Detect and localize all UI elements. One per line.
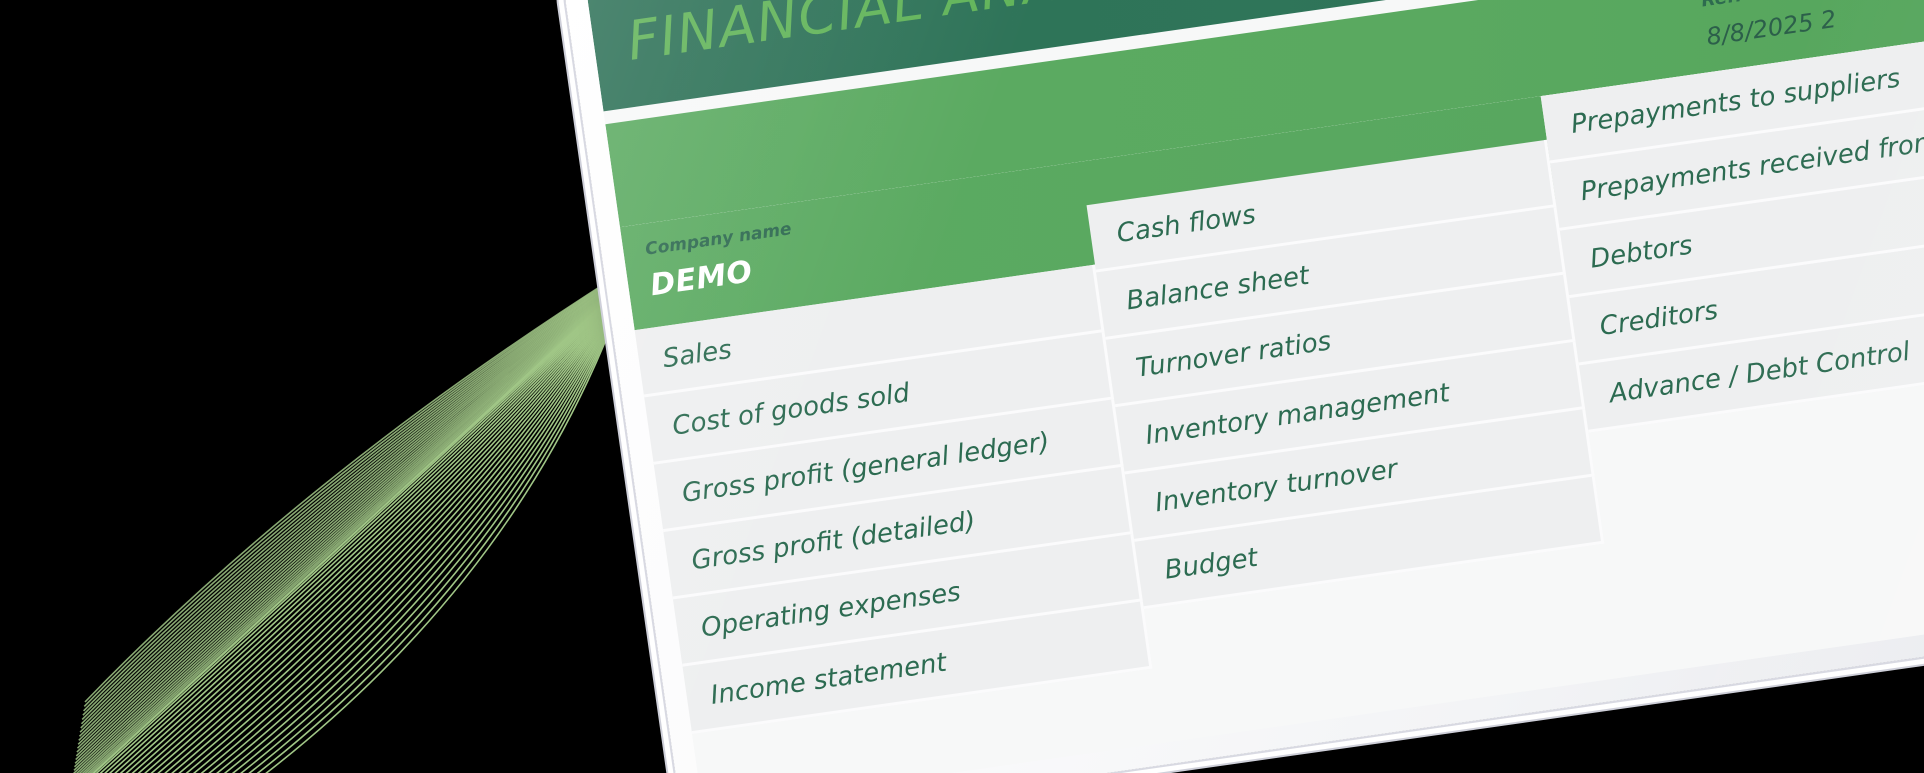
menu-tile-label: Cash flows xyxy=(1115,199,1258,248)
menu-tile-label: Balance sheet xyxy=(1124,260,1311,316)
menu-tile-label: Sales xyxy=(661,334,734,373)
refresh-date-group: Refresh Date 8/8/2025 2 xyxy=(1700,0,1843,51)
menu-tile-label: Creditors xyxy=(1598,295,1720,341)
menu-tile-label: Debtors xyxy=(1588,230,1694,274)
refresh-date-value[interactable]: 8/8/2025 2 xyxy=(1705,4,1843,51)
menu-column-1: SalesCost of goods soldGross profit (gen… xyxy=(620,162,1163,773)
tablet-device: FINANCIAL ANALYTICS PLY Business Refresh… xyxy=(560,0,1924,773)
menu-tile-label: Turnover ratios xyxy=(1134,326,1333,383)
menu-column-2: Cash flowsBalance sheetTurnover ratiosIn… xyxy=(1080,96,1623,743)
tablet-screen: FINANCIAL ANALYTICS PLY Business Refresh… xyxy=(585,0,1924,773)
menu-tile-label: Budget xyxy=(1163,542,1260,585)
screenshot-stage: FINANCIAL ANALYTICS PLY Business Refresh… xyxy=(0,0,1924,773)
wireframe-mesh-decoration xyxy=(30,250,650,773)
